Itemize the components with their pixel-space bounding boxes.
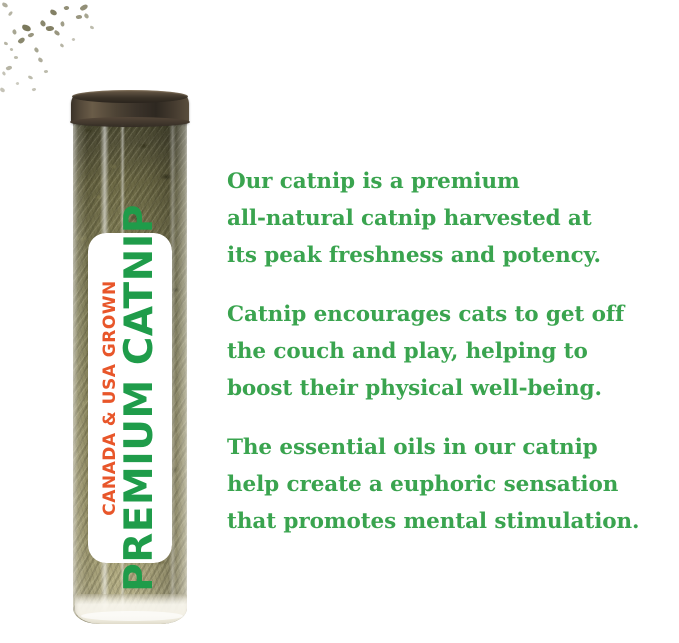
catnip-flake <box>37 57 43 63</box>
label-text-group: CANADA & USA GROWN PREMIUM CATNIP <box>88 233 172 563</box>
copy-line: Our catnip is a premium <box>227 163 679 200</box>
copy-line: help create a euphoric sensation <box>227 466 679 503</box>
marketing-copy: Our catnip is a premium all-natural catn… <box>227 163 679 540</box>
copy-paragraph-2: Catnip encourages cats to get off the co… <box>227 296 679 407</box>
catnip-flake <box>44 69 49 73</box>
catnip-flake <box>14 56 19 60</box>
tube-base <box>75 594 187 624</box>
catnip-flake <box>60 43 65 48</box>
catnip-flake <box>39 20 47 28</box>
catnip-flake <box>10 48 14 52</box>
catnip-flake <box>76 14 83 20</box>
copy-line: The essential oils in our catnip <box>227 429 679 466</box>
catnip-flake <box>46 25 55 32</box>
catnip-flake <box>4 42 9 46</box>
cap-lip <box>70 117 190 127</box>
label-origin-text: CANADA & USA GROWN <box>102 280 119 516</box>
catnip-flake <box>33 47 39 53</box>
copy-line: Catnip encourages cats to get off <box>227 296 679 333</box>
catnip-flake <box>90 26 95 30</box>
catnip-flake <box>60 21 66 27</box>
copy-paragraph-3: The essential oils in our catnip help cr… <box>227 429 679 540</box>
catnip-flake <box>28 75 34 79</box>
copy-line: that promotes mental stimulation. <box>227 503 679 540</box>
product-label: CANADA & USA GROWN PREMIUM CATNIP <box>88 233 172 563</box>
tube-cap <box>71 94 189 124</box>
catnip-flake <box>27 32 34 39</box>
cap-rim <box>72 90 188 103</box>
catnip-flake <box>2 71 7 76</box>
copy-line: boost their physical well-being. <box>227 370 679 407</box>
catnip-flake <box>79 3 88 12</box>
catnip-flake <box>32 87 37 92</box>
copy-line: the couch and play, helping to <box>227 333 679 370</box>
catnip-flake <box>11 29 17 35</box>
catnip-flake <box>83 13 89 19</box>
catnip-flake <box>63 5 69 11</box>
catnip-tube: CANADA & USA GROWN PREMIUM CATNIP <box>71 94 189 628</box>
label-product-text: PREMIUM CATNIP <box>120 204 159 592</box>
copy-paragraph-1: Our catnip is a premium all-natural catn… <box>227 163 679 274</box>
catnip-flake <box>1 2 8 8</box>
catnip-flake <box>0 87 6 93</box>
copy-line: all-natural catnip harvested at <box>227 200 679 237</box>
catnip-flake <box>71 37 75 41</box>
catnip-flake <box>21 24 31 32</box>
catnip-flake <box>8 11 13 17</box>
catnip-flake <box>5 65 12 71</box>
catnip-flake <box>53 30 60 36</box>
catnip-flake <box>49 9 57 16</box>
copy-line: its peak freshness and potency. <box>227 237 679 274</box>
catnip-flake <box>17 36 25 45</box>
product-scene: CANADA & USA GROWN PREMIUM CATNIP Our ca… <box>0 0 679 643</box>
catnip-flake <box>15 81 19 85</box>
